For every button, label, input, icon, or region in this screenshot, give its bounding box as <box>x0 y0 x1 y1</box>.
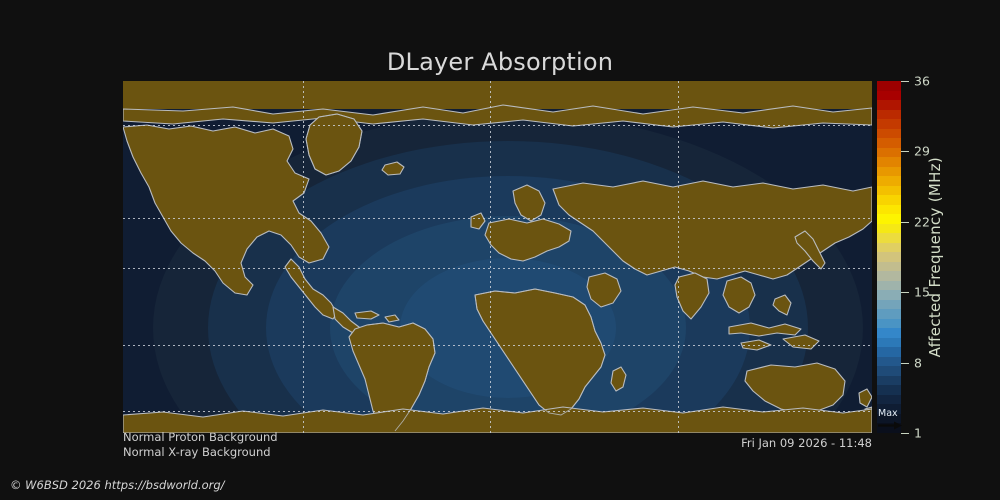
colorbar-band <box>877 91 901 101</box>
colorbar-band <box>877 252 901 262</box>
colorbar-axis-label: Affected Frequency (MHz) <box>925 81 945 433</box>
colorbar-band <box>877 138 901 148</box>
xray-background-note: Normal X-ray Background <box>123 445 271 459</box>
page-title: DLayer Absorption <box>0 48 1000 76</box>
colorbar-band <box>877 385 901 395</box>
colorbar-band <box>877 110 901 120</box>
colorbar-band <box>877 100 901 110</box>
colorbar-tick <box>901 222 909 223</box>
colorbar[interactable] <box>877 81 901 433</box>
colorbar-band <box>877 148 901 158</box>
colorbar-tick <box>901 292 909 293</box>
colorbar-band <box>877 338 901 348</box>
world-map-graphic <box>123 81 872 433</box>
colorbar-band <box>877 300 901 310</box>
colorbar-band <box>877 224 901 234</box>
colorbar-axis-label-text: Affected Frequency (MHz) <box>926 157 944 357</box>
max-arrow-icon <box>878 421 902 430</box>
colorbar-max-marker: Max <box>877 410 903 432</box>
colorbar-band <box>877 81 901 91</box>
colorbar-band <box>877 281 901 291</box>
colorbar-band <box>877 271 901 281</box>
colorbar-band <box>877 366 901 376</box>
colorbar-band <box>877 243 901 253</box>
world-map-panel[interactable] <box>123 81 872 433</box>
colorbar-band <box>877 167 901 177</box>
colorbar-band <box>877 205 901 215</box>
colorbar-band <box>877 157 901 167</box>
timestamp-label: Fri Jan 09 2026 - 11:48 <box>741 436 872 450</box>
colorbar-band <box>877 129 901 139</box>
colorbar-band <box>877 233 901 243</box>
colorbar-band <box>877 309 901 319</box>
colorbar-band <box>877 176 901 186</box>
copyright-label: © W6BSD 2026 https://bsdworld.org/ <box>10 478 225 492</box>
colorbar-tick <box>901 433 909 434</box>
colorbar-band <box>877 347 901 357</box>
colorbar-band <box>877 290 901 300</box>
colorbar-band <box>877 262 901 272</box>
colorbar-band <box>877 376 901 386</box>
proton-background-note: Normal Proton Background <box>123 430 278 444</box>
colorbar-tick-label: 8 <box>914 355 922 370</box>
colorbar-band <box>877 319 901 329</box>
colorbar-gradient <box>877 81 901 433</box>
colorbar-tick <box>901 151 909 152</box>
colorbar-band <box>877 186 901 196</box>
colorbar-band <box>877 214 901 224</box>
colorbar-band <box>877 328 901 338</box>
colorbar-band <box>877 119 901 129</box>
colorbar-tick-label: 1 <box>914 426 922 441</box>
colorbar-tick <box>901 81 909 82</box>
colorbar-tick <box>901 363 909 364</box>
dlayer-absorption-map-view: DLayer Absorption <box>0 0 1000 500</box>
colorbar-band <box>877 195 901 205</box>
max-marker-label: Max <box>878 409 898 419</box>
colorbar-band <box>877 395 901 405</box>
colorbar-band <box>877 357 901 367</box>
colorbar-ticks: 3629221581 <box>901 81 991 433</box>
